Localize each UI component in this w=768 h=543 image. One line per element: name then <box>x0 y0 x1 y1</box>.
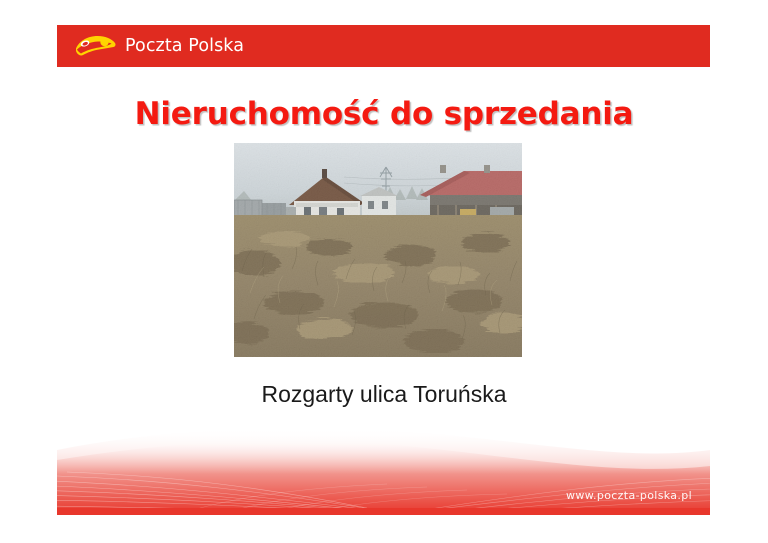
poczta-polska-horn-logo-icon <box>73 33 117 59</box>
property-photo <box>234 143 522 357</box>
page-title: Nieruchomość do sprzedania <box>0 96 768 132</box>
brand-name-label: Poczta Polska <box>125 36 244 56</box>
property-photo-image <box>234 143 522 357</box>
footer-website-url[interactable]: www.poczta-polska.pl <box>566 489 692 502</box>
brand-logo: Poczta Polska <box>73 33 244 59</box>
photo-caption: Rozgarty ulica Toruńska <box>0 381 768 408</box>
slide-header-bar: Poczta Polska <box>57 25 710 67</box>
presentation-slide: Poczta Polska Nieruchomość do sprzedania <box>0 0 768 543</box>
